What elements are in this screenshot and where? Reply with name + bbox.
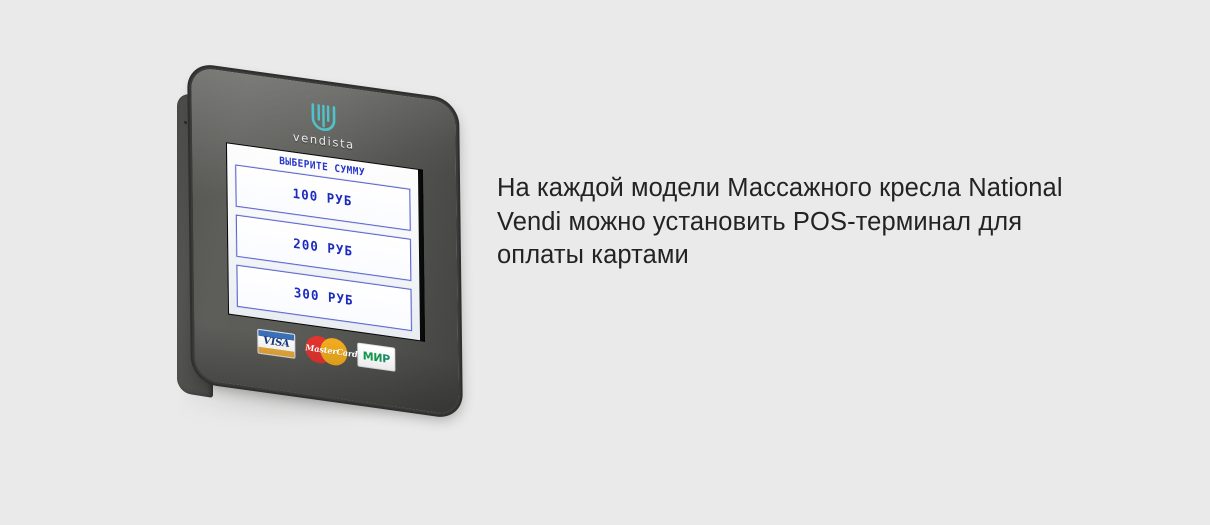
amount-button-300-label: 300 РУБ (294, 287, 354, 308)
terminal-screen-bezel: ВЫБЕРИТЕ СУММУ 100 РУБ 200 РУБ 300 РУБ (225, 142, 424, 342)
product-image-payment-terminal: vendista ВЫБЕРИТЕ СУММУ 100 РУБ 2 (165, 75, 485, 425)
caption-line-3: оплаты картами (497, 239, 1169, 273)
amount-button-list: 100 РУБ 200 РУБ 300 РУБ (235, 164, 412, 331)
device-side-screw (184, 121, 187, 124)
caption-block: На каждой модели Массажного кресла Natio… (497, 172, 1169, 273)
caption-line-2: Vendi можно установить POS-терминал для (497, 206, 1169, 240)
amount-button-100-label: 100 РУБ (293, 187, 353, 208)
visa-logo-icon: VISA (257, 328, 295, 358)
amount-button-200-label: 200 РУБ (293, 237, 353, 258)
terminal-device: vendista ВЫБЕРИТЕ СУММУ 100 РУБ 2 (165, 75, 485, 425)
mir-logo-label: МИР (363, 350, 390, 365)
mastercard-logo-icon: MasterCard (305, 334, 347, 367)
vendista-brand-name: vendista (293, 132, 355, 152)
mir-logo-icon: МИР (357, 342, 395, 371)
page-root: vendista ВЫБЕРИТЕ СУММУ 100 РУБ 2 (0, 0, 1210, 525)
vendista-brand-lockup: vendista (292, 98, 355, 151)
vendista-u-mark-icon (310, 101, 336, 135)
device-front-panel: vendista ВЫБЕРИТЕ СУММУ 100 РУБ 2 (191, 66, 459, 415)
terminal-screen[interactable]: ВЫБЕРИТЕ СУММУ 100 РУБ 200 РУБ 300 РУБ (226, 143, 419, 340)
caption-line-1: На каждой модели Массажного кресла Natio… (497, 172, 1169, 206)
